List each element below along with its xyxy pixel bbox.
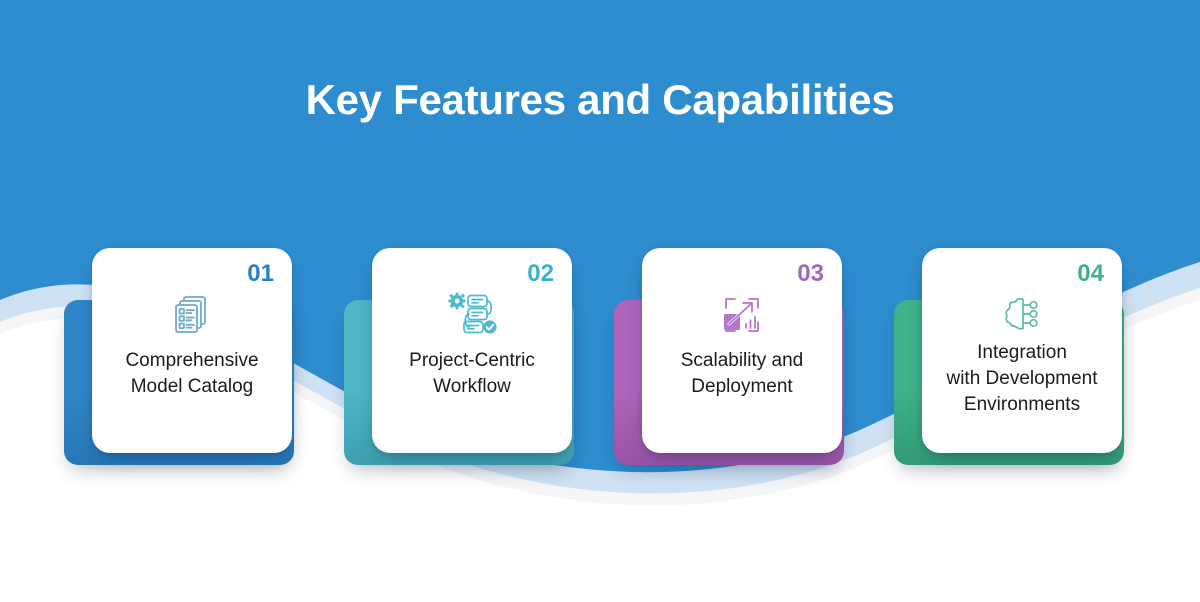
- card-title-line: Project-Centric: [378, 348, 566, 374]
- feature-card-2[interactable]: 02: [344, 240, 574, 480]
- card-number-2: 02: [527, 260, 554, 288]
- card-title-2: Project-Centric Workflow: [378, 348, 566, 400]
- card-number-4: 04: [1077, 260, 1104, 288]
- gear-circuit-nodes-icon: [922, 292, 1122, 346]
- card-surface-4[interactable]: 04 Integration with Develop: [922, 248, 1122, 453]
- card-title-line: Model Catalog: [98, 374, 286, 400]
- feature-card-1[interactable]: 01: [64, 240, 294, 480]
- document-stack-checklist-icon: [92, 292, 292, 346]
- scale-arrow-barchart-icon: [642, 292, 842, 346]
- card-surface-1[interactable]: 01: [92, 248, 292, 453]
- card-title-1: Comprehensive Model Catalog: [98, 348, 286, 400]
- card-number-1: 01: [247, 260, 274, 288]
- card-surface-2[interactable]: 02: [372, 248, 572, 453]
- card-title-line: Workflow: [378, 374, 566, 400]
- card-title-line: Comprehensive: [98, 348, 286, 374]
- card-title-4: Integration with Development Environment…: [928, 340, 1116, 418]
- card-number-3: 03: [797, 260, 824, 288]
- page-title: Key Features and Capabilities: [0, 76, 1200, 124]
- card-title-line: Deployment: [648, 374, 836, 400]
- card-title-line: Scalability and: [648, 348, 836, 374]
- card-title-line: with Development: [928, 366, 1116, 392]
- workflow-gear-checkmark-icon: [372, 292, 572, 346]
- card-title-line: Integration: [928, 340, 1116, 366]
- feature-card-4[interactable]: 04 Integration with Develop: [894, 240, 1124, 480]
- card-title-line: Environments: [928, 392, 1116, 418]
- card-title-3: Scalability and Deployment: [648, 348, 836, 400]
- infographic-slide: Key Features and Capabilities 01: [0, 0, 1200, 602]
- card-surface-3[interactable]: 03: [642, 248, 842, 453]
- feature-card-3[interactable]: 03: [614, 240, 844, 480]
